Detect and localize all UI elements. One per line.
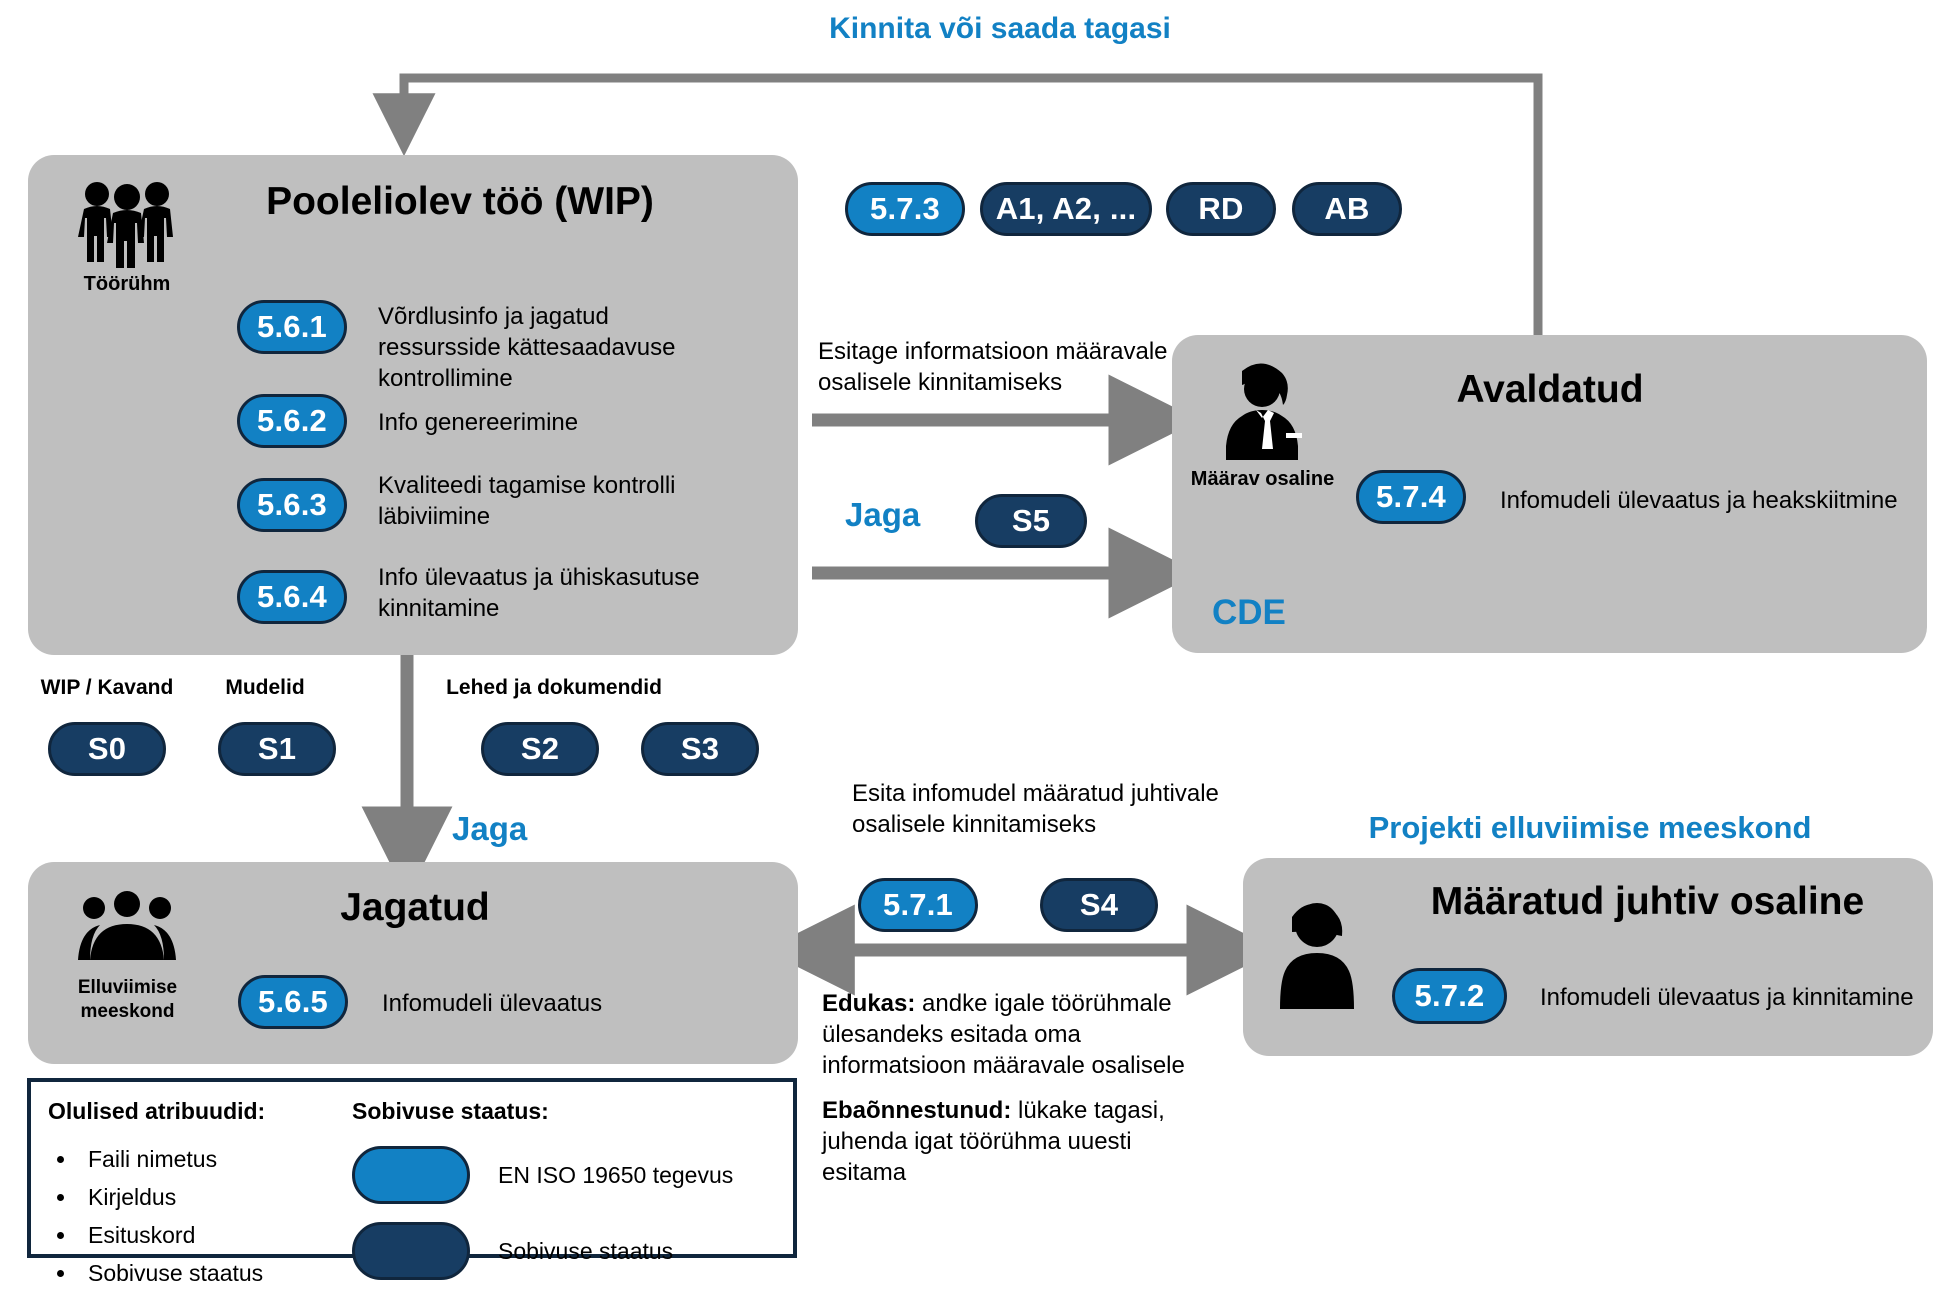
status-pill-s3[interactable]: S3 [641,722,759,776]
legend-attribute-item: Esituskord [78,1216,263,1254]
wip-step-label-4: Info ülevaatus ja ühiskasutuse kinnitami… [378,562,738,624]
status-pill-s0[interactable]: S0 [48,722,166,776]
submit-to-appointing-note: Esitage informatsioon määravale osalisel… [818,336,1178,398]
legend-attribute-item: Kirjeldus [78,1178,263,1216]
return-flow-label: Kinnita või saada tagasi [760,12,1240,46]
lead-party-step-label: Infomudeli ülevaatus ja kinnitamine [1540,982,1940,1013]
published-step-label: Infomudeli ülevaatus ja heakskiitmine [1500,485,1930,516]
status-pill-s2[interactable]: S2 [481,722,599,776]
legend-swatch-status [352,1222,470,1280]
legend-swatch-activity [352,1146,470,1204]
cde-label: CDE [1212,593,1286,633]
appointing-party-icon [1212,355,1312,465]
shared-step-code[interactable]: 5.6.5 [238,975,348,1029]
status-pill-s1[interactable]: S1 [218,722,336,776]
wip-icon-caption: Töörühm [52,272,202,296]
wip-step-code-1[interactable]: 5.6.1 [237,300,347,354]
project-delivery-team-supertitle: Projekti elluviimise meeskond [1230,810,1947,846]
share-label-upper: Jaga [845,496,920,534]
shared-step-label: Infomudeli ülevaatus [382,988,712,1019]
middle-pill-571[interactable]: 5.7.1 [858,878,978,932]
submit-to-lead-note: Esita infomudel määratud juhtivale osali… [852,778,1222,840]
fail-note-bold: Ebaõnnestunud: [822,1097,1011,1124]
top-pill-2[interactable]: A1, A2, ... [980,182,1152,236]
wip-title: Pooleliolev töö (WIP) [200,180,720,224]
lead-appointed-party-icon [1272,895,1362,1010]
published-title: Avaldatud [1340,368,1760,412]
shared-icon-caption: Elluviimise meeskond [50,976,205,1024]
legend-attributes-list: Faili nimetus Kirjeldus Esituskord Sobiv… [48,1140,263,1292]
lead-party-title: Määratud juhtiv osaline [1375,880,1920,924]
wip-step-label-1: Võrdlusinfo ja jagatud ressursside kätte… [378,301,738,394]
shared-title: Jagatud [200,886,630,930]
status-group-heading-2: Mudelid [190,676,340,700]
success-note-bold: Edukas: [822,990,915,1017]
share-label-lower: Jaga [452,810,527,848]
top-pill-1[interactable]: 5.7.3 [845,182,965,236]
wip-step-code-4[interactable]: 5.6.4 [237,570,347,624]
status-group-heading-3: Lehed ja dokumendid [424,676,684,700]
legend-attributes-heading: Olulised atribuudid: [48,1098,265,1125]
legend-swatch-status-label: Sobivuse staatus [498,1238,673,1265]
diagram-canvas: Kinnita või saada tagasi Töörühm Pooleli… [0,0,1947,1303]
wip-step-label-2: Info genereerimine [378,407,738,438]
wip-step-label-3: Kvaliteedi tagamise kontrolli läbiviimin… [378,470,738,532]
published-step-code[interactable]: 5.7.4 [1356,470,1466,524]
top-pill-3[interactable]: RD [1166,182,1276,236]
status-group-heading-1: WIP / Kavand [22,676,192,700]
wip-step-code-2[interactable]: 5.6.2 [237,394,347,448]
work-group-icon [72,178,182,268]
middle-pill-s4[interactable]: S4 [1040,878,1158,932]
lead-party-step-code[interactable]: 5.7.2 [1392,968,1507,1024]
legend-attribute-item: Faili nimetus [78,1140,263,1178]
delivery-team-icon [72,890,182,970]
wip-step-code-3[interactable]: 5.6.3 [237,478,347,532]
success-note: Edukas: andke igale töörühmale ülesandek… [822,988,1222,1081]
share-pill-s5[interactable]: S5 [975,494,1087,548]
top-pill-4[interactable]: AB [1292,182,1402,236]
published-icon-caption: Määrav osaline [1190,467,1335,491]
fail-note: Ebaõnnestunud: lükake tagasi, juhenda ig… [822,1095,1222,1188]
legend-attribute-item: Sobivuse staatus [78,1254,263,1292]
legend-status-heading: Sobivuse staatus: [352,1098,549,1125]
legend-swatch-activity-label: EN ISO 19650 tegevus [498,1162,733,1189]
